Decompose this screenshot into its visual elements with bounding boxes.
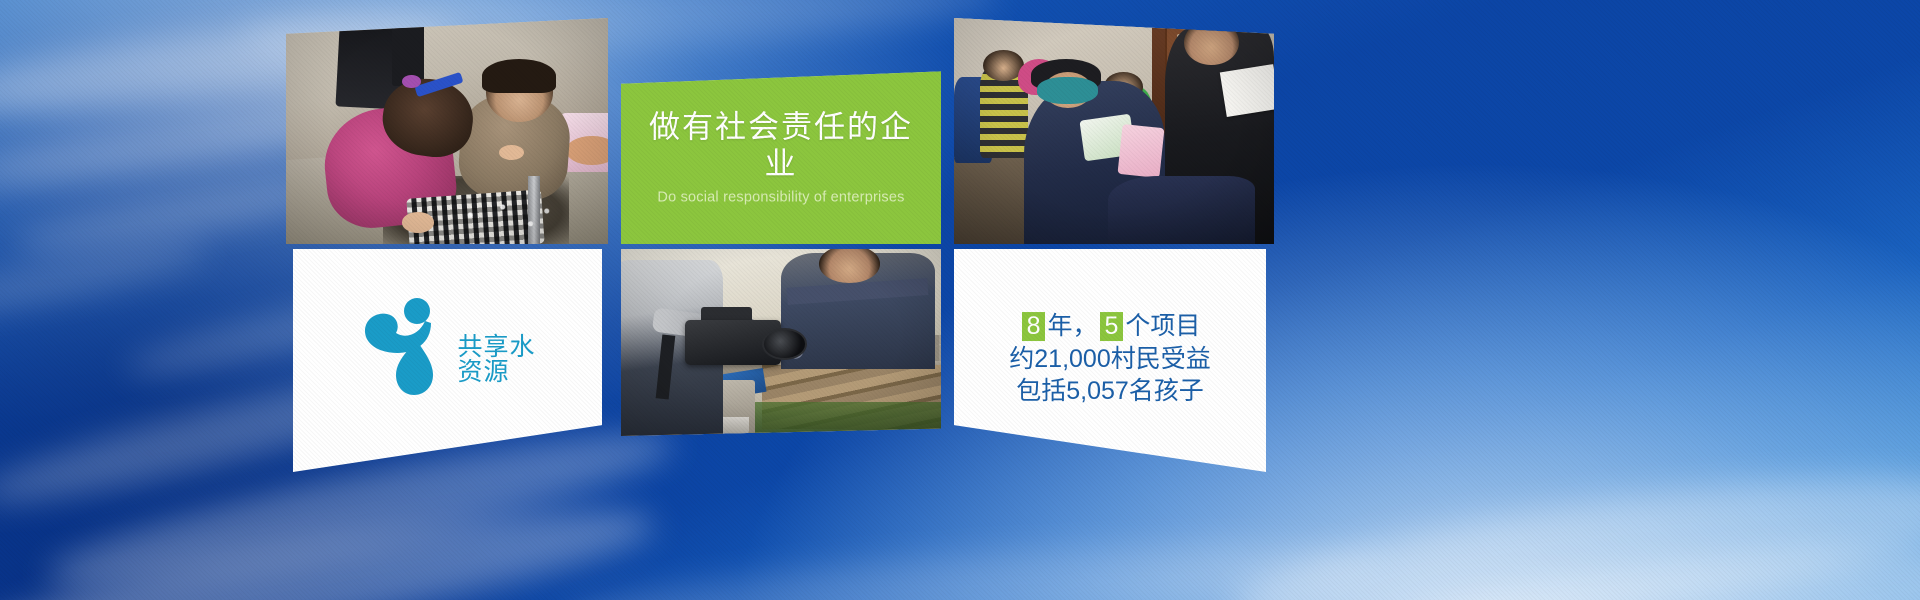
stats-line-3: 包括5,057名孩子 bbox=[962, 375, 1258, 408]
stats-projects-value: 5 bbox=[1100, 312, 1124, 341]
stats-line-2: 约21,000村民受益 bbox=[962, 343, 1258, 376]
panel-grid: 做有社会责任的企业 Do social responsibility of en… bbox=[0, 0, 1920, 600]
headline-title-zh: 做有社会责任的企业 bbox=[633, 108, 929, 182]
banner-stage: 做有社会责任的企业 Do social responsibility of en… bbox=[0, 0, 1920, 600]
photo-canvas bbox=[954, 18, 1274, 244]
supply-package-2 bbox=[1118, 124, 1165, 178]
photo-villagers-receiving bbox=[954, 18, 1274, 244]
logo-name-line-1: 共享水 bbox=[457, 335, 535, 361]
photo-children-washing bbox=[286, 18, 608, 244]
logo-name-line-2: 资源 bbox=[457, 360, 535, 386]
paper-list bbox=[1220, 64, 1274, 117]
foreground-figure bbox=[1108, 176, 1255, 244]
water-splash bbox=[447, 199, 563, 240]
headline-text-block: 做有社会责任的企业 Do social responsibility of en… bbox=[621, 108, 941, 209]
stats-years-value: 8 bbox=[1022, 312, 1046, 341]
photo-canvas bbox=[621, 249, 941, 436]
basin-contents bbox=[566, 136, 608, 165]
photo-canvas bbox=[286, 18, 608, 244]
stats-panel: 8年，5个项目 约21,000村民受益 包括5,057名孩子 bbox=[954, 249, 1266, 472]
water-droplet-person-icon bbox=[359, 295, 451, 399]
volunteer-head bbox=[1184, 20, 1238, 65]
stats-line-1: 8年，5个项目 bbox=[962, 310, 1258, 343]
logo-panel: 共享水 资源 bbox=[293, 249, 602, 472]
stats-text-block: 8年，5个项目 约21,000村民受益 包括5,057名孩子 bbox=[954, 310, 1266, 408]
camera-lens bbox=[762, 328, 808, 360]
headline-subtitle-en: Do social responsibility of enterprises bbox=[633, 188, 929, 210]
headline-panel: 做有社会责任的企业 Do social responsibility of en… bbox=[621, 66, 941, 244]
hair-tie bbox=[402, 75, 421, 89]
boy-hair bbox=[482, 59, 556, 93]
stats-projects-unit: 个项目 bbox=[1125, 312, 1200, 340]
photo-cameraman-filming bbox=[621, 249, 941, 436]
logo-lockup: 共享水 资源 bbox=[293, 295, 602, 399]
grass bbox=[749, 402, 941, 436]
teal-scarf bbox=[1037, 77, 1098, 104]
logo-wordmark: 共享水 资源 bbox=[457, 309, 535, 386]
girl-hands bbox=[402, 212, 434, 232]
stats-years-unit: 年， bbox=[1047, 312, 1097, 340]
